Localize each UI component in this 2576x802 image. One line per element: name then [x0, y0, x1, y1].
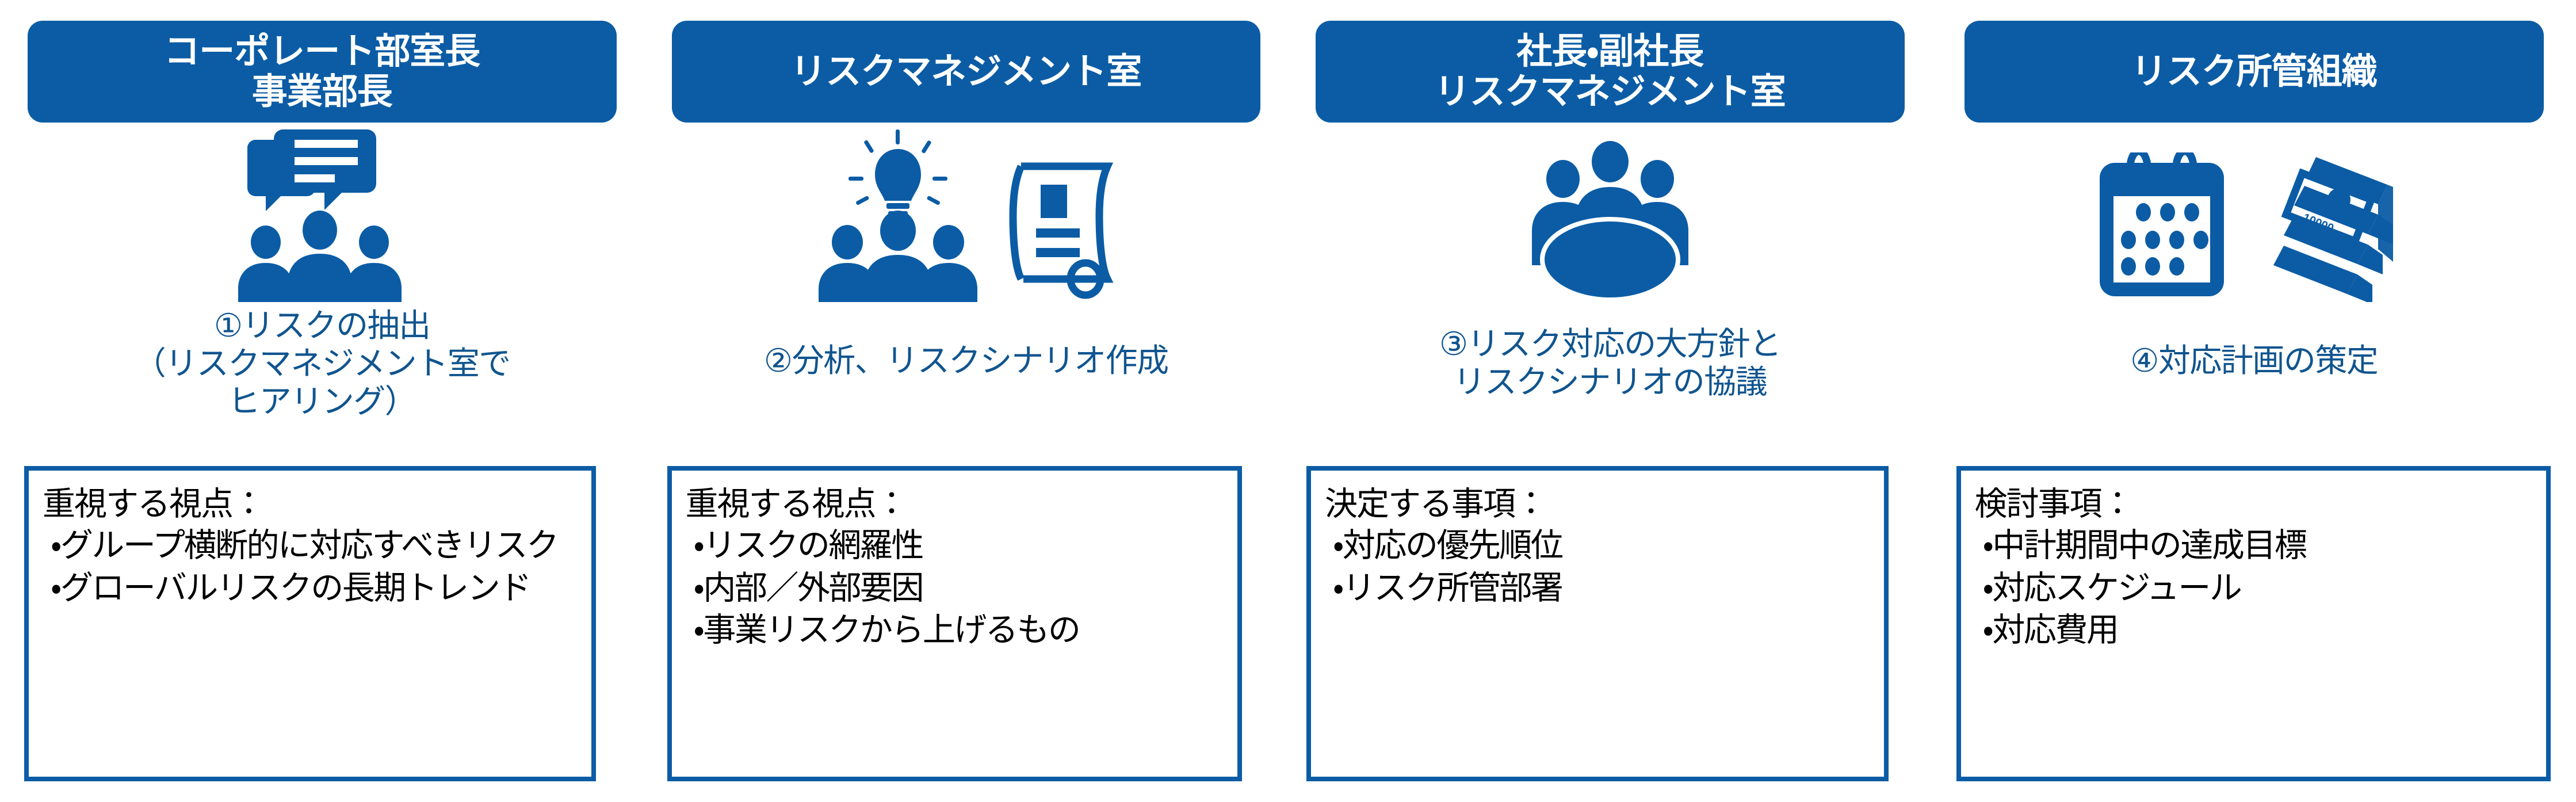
column-4-caption: ④対応計画の策定 [1938, 342, 2571, 380]
column-3-icon-group [1288, 129, 1932, 302]
list-item: ・グループ横断的に対応すべきリスク [51, 526, 583, 566]
meeting-round-table-icon [1512, 141, 1708, 302]
column-3-caption: ③リスク対応の大方針と リスクシナリオの協議 [1294, 325, 1927, 401]
column-1-detail-list: ・グループ横断的に対応すべきリスク ・グローバルリスクの長期トレンド [43, 526, 583, 608]
column-4-icon-group: 10000 [1932, 129, 2576, 302]
column-3-header-pill: 社長・副社長 リスクマネジメント室 [1316, 21, 1905, 123]
column-2-caption: ②分析、リスクシナリオ作成 [650, 342, 1283, 380]
column-3-detail-title: 決定する事項： [1325, 484, 1876, 524]
money-stack-icon: 10000 [2247, 152, 2414, 302]
column-2-detail-title: 重視する視点： [686, 484, 1230, 524]
column-1-icon-group [0, 129, 644, 302]
column-1-caption: ①リスクの抽出 （リスクマネジメント室で ヒアリング） [6, 307, 639, 421]
process-column-2: リスクマネジメント室 [644, 0, 1289, 802]
list-item: ・グローバルリスクの長期トレンド [51, 568, 583, 609]
list-item: ・リスク所管部署 [1333, 568, 1876, 609]
column-4-detail-list: ・中計期間中の達成目標 ・対応スケジュール ・対応費用 [1975, 526, 2539, 651]
column-3-detail-list: ・対応の優先順位 ・リスク所管部署 [1325, 526, 1876, 608]
list-item: ・内部／外部要因 [694, 568, 1230, 609]
process-column-4: リスク所管組織 [1932, 0, 2576, 802]
calendar-icon [2094, 152, 2232, 302]
people-group-with-speech-bubble-icon [230, 129, 414, 302]
column-1-detail-title: 重視する視点： [43, 484, 583, 524]
column-2-header-pill: リスクマネジメント室 [672, 21, 1261, 123]
list-item: ・対応の優先順位 [1333, 526, 1876, 566]
column-3-detail-box: 決定する事項： ・対応の優先順位 ・リスク所管部署 [1306, 466, 1889, 781]
people-group-with-lightbulb-icon [812, 129, 984, 302]
risk-management-process-diagram: コーポレート部室長 事業部長 [0, 0, 2576, 802]
column-4-header-pill: リスク所管組織 [1965, 21, 2544, 123]
list-item: ・事業リスクから上げるもの [694, 610, 1230, 651]
column-4-detail-box: 検討事項： ・中計期間中の達成目標 ・対応スケジュール ・対応費用 [1956, 466, 2551, 781]
list-item: ・リスクの網羅性 [694, 526, 1230, 566]
column-2-detail-list: ・リスクの網羅性 ・内部／外部要因 ・事業リスクから上げるもの [686, 526, 1230, 651]
column-4-detail-title: 検討事項： [1975, 484, 2539, 524]
list-item: ・対応費用 [1983, 610, 2539, 651]
column-1-header-pill: コーポレート部室長 事業部長 [28, 21, 617, 123]
column-1-detail-box: 重視する視点： ・グループ横断的に対応すべきリスク ・グローバルリスクの長期トレ… [24, 466, 596, 781]
process-column-3: 社長・副社長 リスクマネジメント室 ③リスク対応の大方針と リ [1288, 0, 1932, 802]
process-column-1: コーポレート部室長 事業部長 [0, 0, 644, 802]
column-2-icon-group [644, 129, 1289, 302]
column-2-detail-box: 重視する視点： ・リスクの網羅性 ・内部／外部要因 ・事業リスクから上げるもの [667, 466, 1243, 781]
list-item: ・対応スケジュール [1983, 568, 2539, 609]
list-item: ・中計期間中の達成目標 [1983, 526, 2539, 566]
scroll-document-icon [999, 158, 1120, 302]
